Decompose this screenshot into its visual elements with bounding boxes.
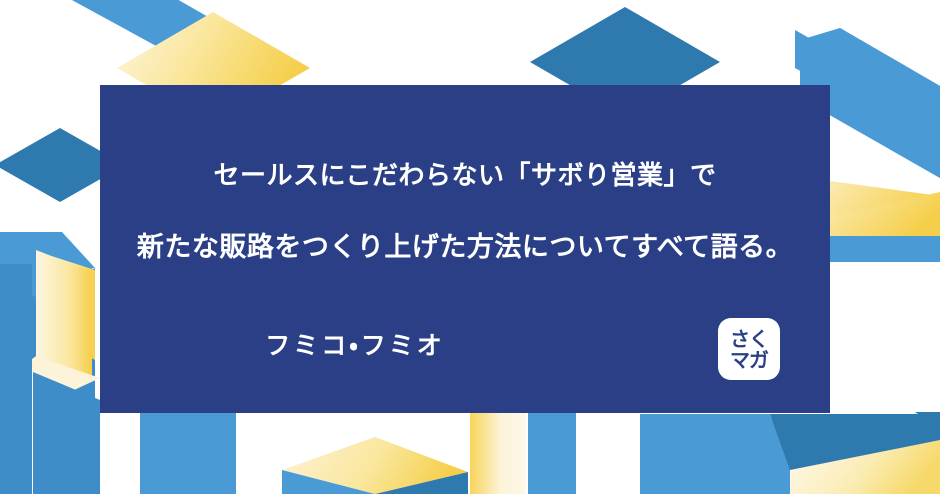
isometric-box-right-lid-left — [640, 414, 790, 470]
author-row: フミコ・フミオ さく マガ — [140, 318, 790, 385]
left-column-outer — [0, 264, 32, 494]
sakumaga-logo[interactable]: さく マガ — [718, 318, 780, 380]
yellow-pillar-bottom — [470, 412, 526, 494]
author-name: フミコ・フミオ — [265, 326, 445, 362]
article-hero-banner: セールスにこだわらない「サボり営業」で 新たな販路をつくり上げた方法についてすべ… — [0, 0, 940, 494]
white-gap-bottom-right — [600, 414, 640, 494]
left-column-inner-lower — [39, 400, 95, 494]
blue-bar-bottom-right-1 — [528, 412, 576, 494]
content-panel: セールスにこだわらない「サボり営業」で 新たな販路をつくり上げた方法についてすべ… — [100, 85, 830, 413]
blue-sliver-right — [828, 236, 940, 262]
article-title-line-1: セールスにこだわらない「サボり営業」で — [214, 161, 717, 190]
logo-line-2: マガ — [730, 350, 768, 370]
blue-bar-bottom-center — [140, 408, 236, 494]
logo-line-1: さく — [730, 329, 768, 349]
article-title-line-2: 新たな販路をつくり上げた方法についてすべて語る。 — [137, 233, 793, 263]
